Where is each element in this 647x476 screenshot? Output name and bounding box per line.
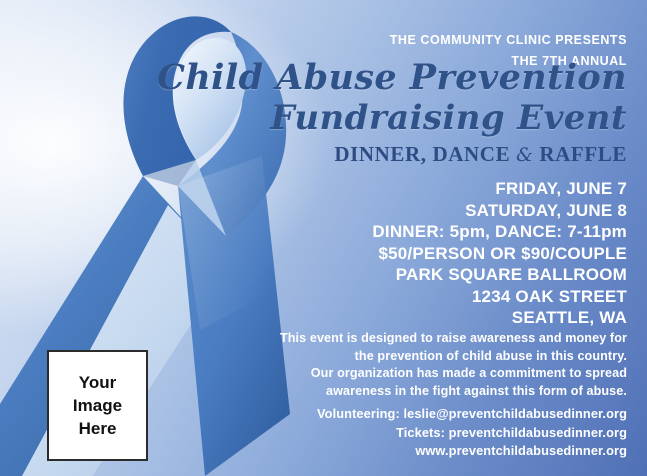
website-link[interactable]: www.preventchildabusedinner.org [317,442,627,461]
volunteering-contact[interactable]: Volunteering: leslie@preventchildabusedi… [317,405,627,424]
detail-line: SEATTLE, WA [372,307,627,329]
placeholder-line-1: Your [79,371,116,394]
description-line: Our organization has made a commitment t… [280,365,627,383]
detail-line: $50/PERSON OR $90/COUPLE [372,243,627,265]
detail-line: DINNER: 5pm, DANCE: 7-11pm [372,221,627,243]
event-ticket-flyer: THE COMMUNITY CLINIC PRESENTS THE 7TH AN… [0,0,647,476]
event-details: FRIDAY, JUNE 7 SATURDAY, JUNE 8 DINNER: … [372,178,627,329]
description-line: awareness in the fight against this form… [280,383,627,401]
ampersand-glyph: & [516,144,534,166]
placeholder-line-3: Here [79,417,117,440]
image-placeholder[interactable]: Your Image Here [47,350,148,461]
placeholder-line-2: Image [73,394,122,417]
tickets-contact[interactable]: Tickets: preventchildabusedinner.org [317,424,627,443]
page-title: Child Abuse Prevention Fundraising Event [157,57,627,139]
presenter-line: THE COMMUNITY CLINIC PRESENTS [390,30,627,51]
subtitle-part-1: DINNER, DANCE [334,142,516,166]
detail-line: FRIDAY, JUNE 7 [372,178,627,200]
description-line: the prevention of child abuse in this co… [280,348,627,366]
title-line-1: Child Abuse Prevention [157,57,627,98]
description-line: This event is designed to raise awarenes… [280,330,627,348]
subtitle-part-2: RAFFLE [534,142,627,166]
event-description: This event is designed to raise awarenes… [280,330,627,400]
title-line-2: Fundraising Event [157,98,627,139]
contact-info: Volunteering: leslie@preventchildabusedi… [317,405,627,461]
detail-line: 1234 OAK STREET [372,286,627,308]
event-subtitle: DINNER, DANCE & RAFFLE [334,142,627,167]
detail-line: PARK SQUARE BALLROOM [372,264,627,286]
detail-line: SATURDAY, JUNE 8 [372,200,627,222]
